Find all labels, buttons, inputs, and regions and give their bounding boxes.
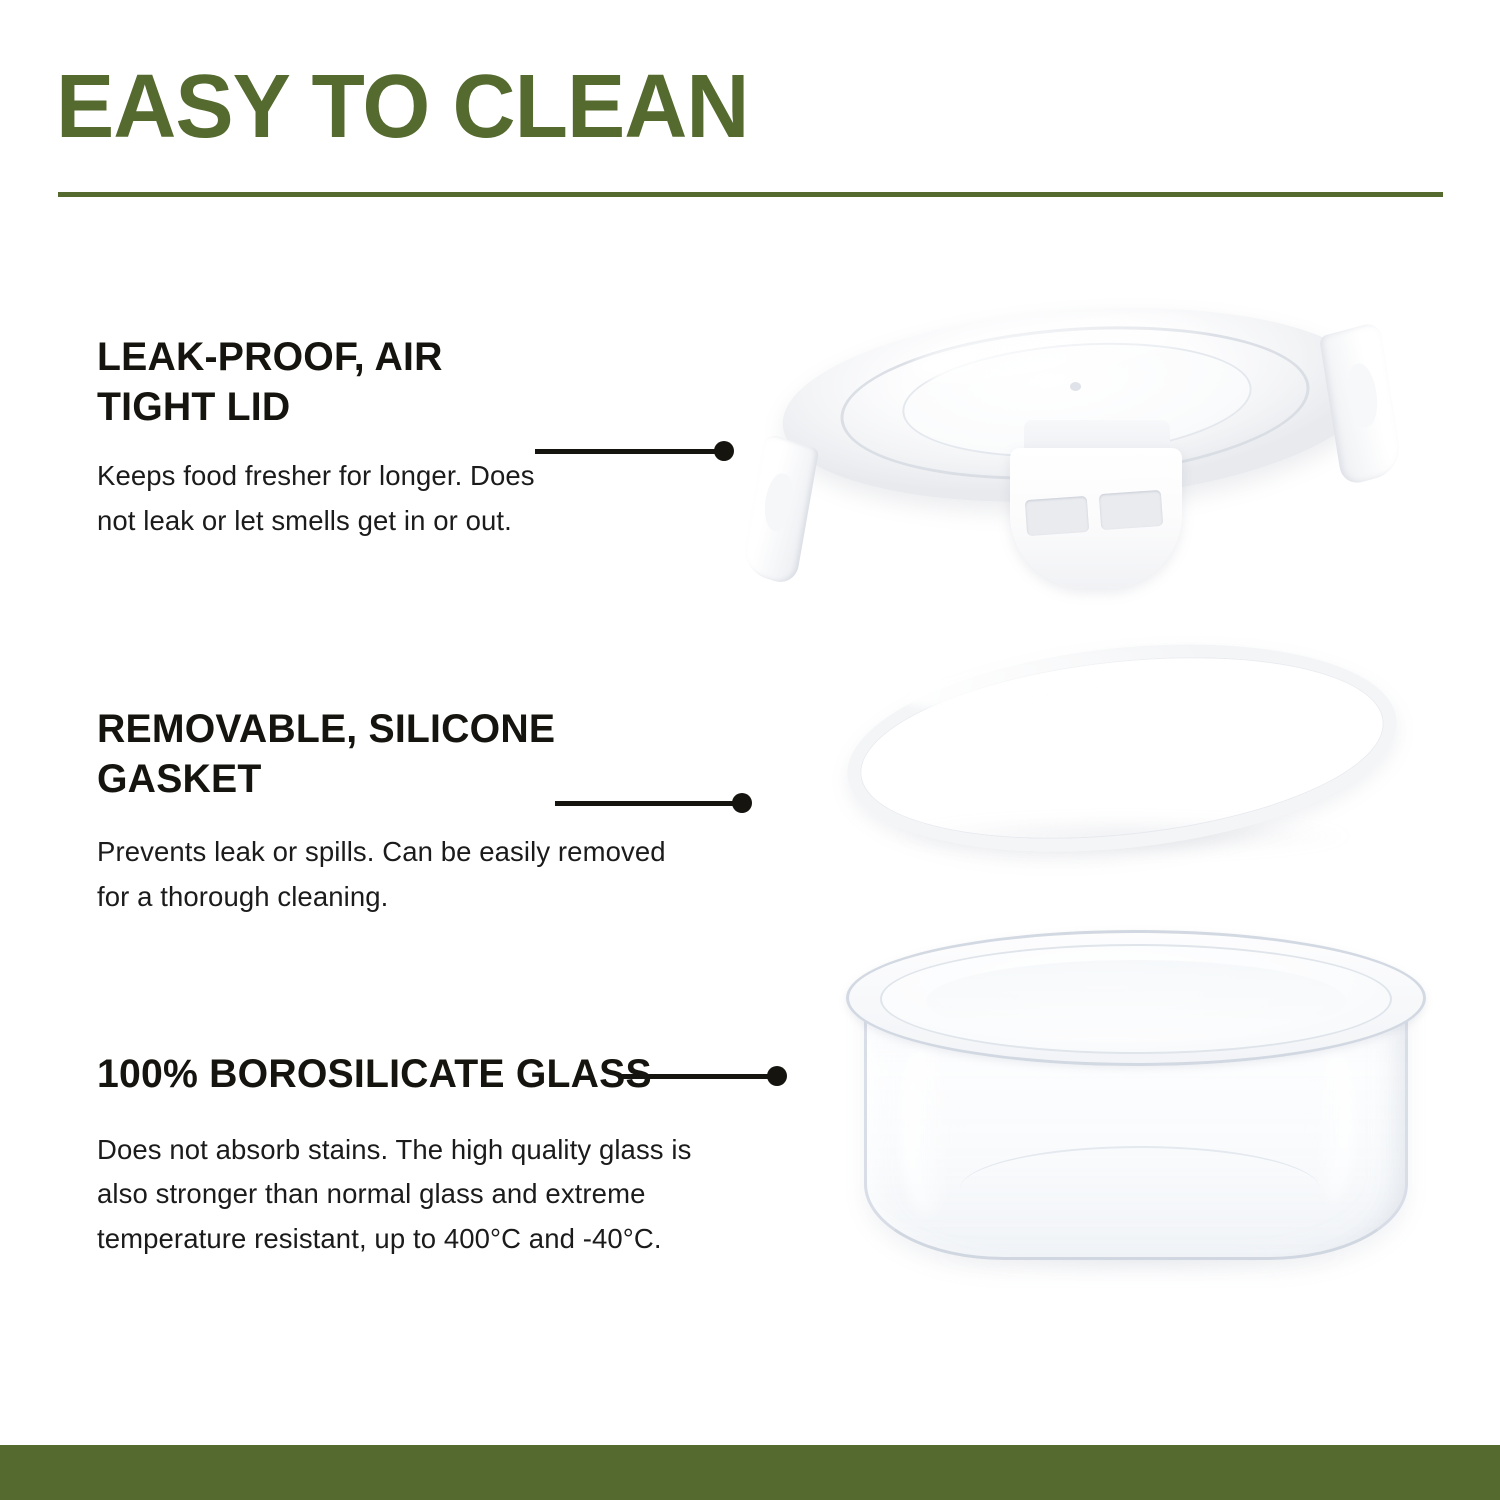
bowl-highlight-left <box>900 1036 954 1216</box>
leader-line <box>555 801 750 806</box>
bowl-interior <box>926 960 1346 1042</box>
lid-center-nub <box>1070 382 1081 391</box>
callout-leader-lid <box>535 441 732 461</box>
footer-accent-bar <box>0 1445 1500 1500</box>
feature-block-lid: LEAK-PROOF, AIR TIGHT LID Keeps food fre… <box>97 333 567 543</box>
feature-body: Prevents leak or spills. Can be easily r… <box>97 830 697 919</box>
page-title: EASY TO CLEAN <box>56 62 748 152</box>
bowl-highlight-right <box>1310 1042 1354 1202</box>
feature-body: Does not absorb stains. The high quality… <box>97 1128 697 1262</box>
callout-leader-glass <box>620 1066 785 1086</box>
leader-line <box>620 1074 785 1079</box>
feature-heading: REMOVABLE, SILICONE GASKET <box>97 705 685 804</box>
product-lid-image <box>752 300 1452 640</box>
lid-clip-right <box>1319 321 1403 487</box>
callout-leader-gasket <box>555 793 750 813</box>
leader-line <box>535 449 732 454</box>
product-bowl-image <box>840 916 1440 1296</box>
feature-block-glass: 100% BOROSILICATE GLASS Does not absorb … <box>97 1050 697 1261</box>
leader-dot-icon <box>767 1066 787 1086</box>
title-divider <box>58 192 1443 197</box>
clip-grip-slot <box>1025 496 1089 536</box>
feature-heading: 100% BOROSILICATE GLASS <box>97 1050 685 1100</box>
clip-grip-slot <box>1099 490 1163 530</box>
infographic-page: EASY TO CLEAN LEAK-PROOF, AIR TIGHT LID … <box>0 0 1500 1500</box>
feature-body: Keeps food fresher for longer. Does not … <box>97 454 567 543</box>
feature-heading: LEAK-PROOF, AIR TIGHT LID <box>97 333 558 432</box>
lid-clip-front <box>1010 448 1182 588</box>
leader-dot-icon <box>714 441 734 461</box>
product-gasket-image <box>846 648 1406 872</box>
bowl-base-curve <box>960 1146 1320 1232</box>
leader-dot-icon <box>732 793 752 813</box>
lid-clip-left <box>741 432 819 587</box>
